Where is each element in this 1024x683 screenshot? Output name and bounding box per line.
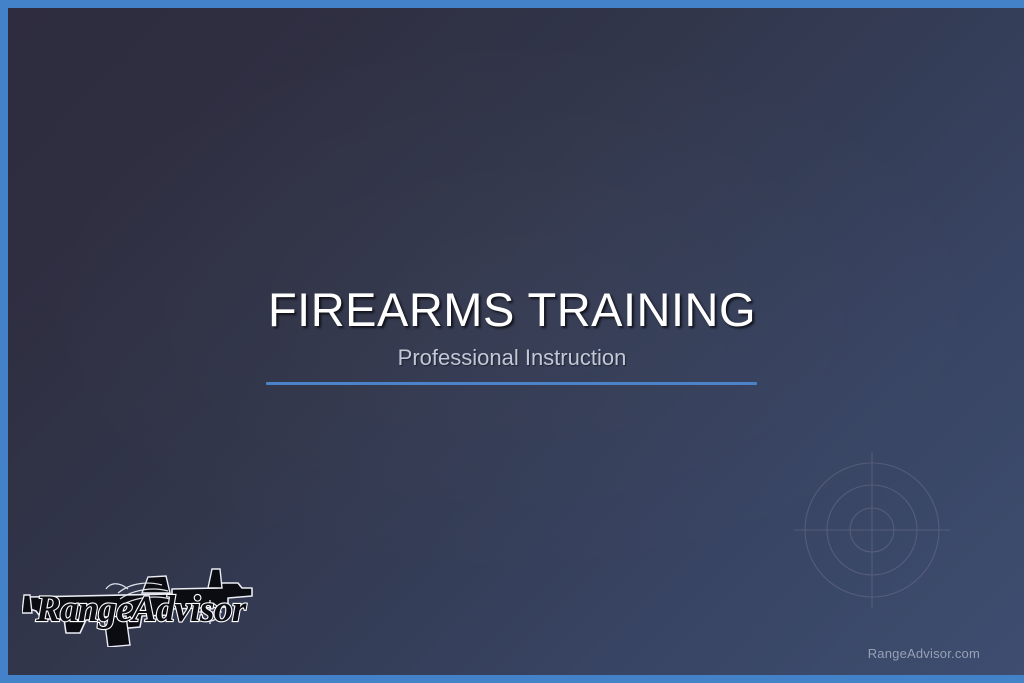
presentation-slide: FIREARMS TRAINING Professional Instructi… [0,0,1024,683]
page-title: FIREARMS TRAINING [0,286,1024,333]
footer-url: RangeAdvisor.com [868,646,980,661]
brand-logo: RangeAdvisor [22,563,258,647]
frame-border-top [0,0,1024,8]
page-subtitle: Professional Instruction [0,347,1024,369]
frame-border-left [0,0,8,683]
title-divider [266,382,757,385]
frame-border-bottom [0,675,1024,683]
brand-wordmark: RangeAdvisor [35,589,247,630]
title-block: FIREARMS TRAINING Professional Instructi… [0,286,1024,369]
